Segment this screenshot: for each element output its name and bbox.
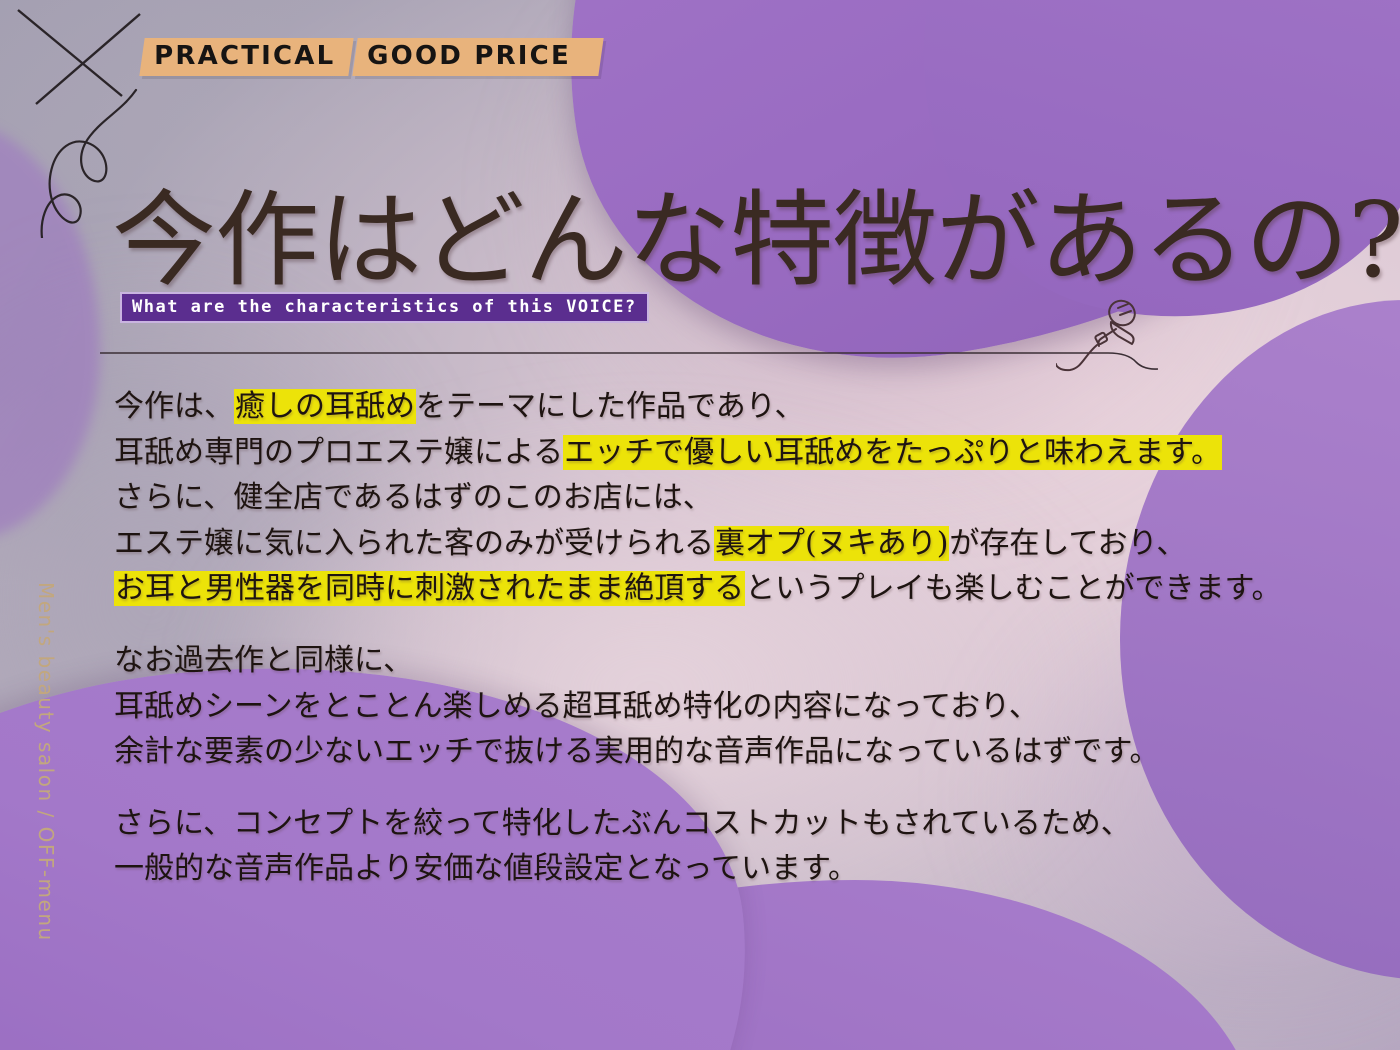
badge-practical: PRACTICAL [139,38,354,76]
body-text: というプレイも楽しむことができます。 [745,571,1281,606]
highlighted-text: 裏オプ(ヌキあり) [714,526,949,561]
body-line: エステ嬢に気に入られた客のみが受けられる裏オプ(ヌキあり)が存在しており、 [114,521,1384,567]
highlighted-text: エッチで優しい耳舐めをたっぷりと味わえます。 [563,435,1222,470]
body-text: をテーマにした作品であり、 [416,389,805,424]
badge-good-price-label: GOOD PRICE [367,41,571,71]
body-line: 余計な要素の少ないエッチで抜ける実用的な音声作品になっているはずです。 [114,729,1384,775]
body-text: さらに、健全店であるはずのこのお店には、 [114,480,713,515]
body-paragraph: 今作は、癒しの耳舐めをテーマにした作品であり、耳舐め専門のプロエステ嬢によるエッ… [114,384,1384,612]
body-line: お耳と男性器を同時に刺激されたまま絶頂するというプレイも楽しむことができます。 [114,566,1384,612]
body-text: なお過去作と同様に、 [114,643,413,678]
body-line: 今作は、癒しの耳舐めをテーマにした作品であり、 [114,384,1384,430]
body-line: なお過去作と同様に、 [114,638,1384,684]
body-text: エステ嬢に気に入られた客のみが受けられる [114,526,714,561]
body-text: 耳舐め専門のプロエステ嬢による [114,435,563,470]
body-line: 一般的な音声作品より安価な値段設定となっています。 [114,846,1384,892]
badge-practical-label: PRACTICAL [154,41,335,71]
page-subtitle: What are the characteristics of this VOI… [120,292,649,323]
microphone-icon [1056,296,1176,382]
page-title: 今作はどんな特徴があるの? [112,188,1400,292]
body-text: 余計な要素の少ないエッチで抜ける実用的な音声作品になっているはずです。 [114,734,1160,769]
body-text: 一般的な音声作品より安価な値段設定となっています。 [114,851,858,886]
badge-group: PRACTICAL GOOD PRICE [96,26,601,76]
badge-good-price: GOOD PRICE [353,38,604,76]
divider-rule [100,344,1160,370]
highlighted-text: 癒しの耳舐め [234,389,416,424]
body-text: が存在しており、 [949,526,1186,561]
body-paragraph: さらに、コンセプトを絞って特化したぶんコストカットもされているため、一般的な音声… [114,801,1384,892]
body-line: 耳舐めシーンをとことん楽しめる超耳舐め特化の内容になっており、 [114,684,1384,730]
body-text: 耳舐めシーンをとことん楽しめる超耳舐め特化の内容になっており、 [114,689,1039,724]
body-copy: 今作は、癒しの耳舐めをテーマにした作品であり、耳舐め専門のプロエステ嬢によるエッ… [114,384,1384,892]
body-line: 耳舐め専門のプロエステ嬢によるエッチで優しい耳舐めをたっぷりと味わえます。 [114,430,1384,476]
body-text: さらに、コンセプトを絞って特化したぶんコストカットもされているため、 [114,806,1131,841]
body-paragraph: なお過去作と同様に、耳舐めシーンをとことん楽しめる超耳舐め特化の内容になっており… [114,638,1384,775]
body-line: さらに、健全店であるはずのこのお店には、 [114,475,1384,521]
poster-canvas: PRACTICAL GOOD PRICE 今作はどんな特徴があるの? What … [0,0,1400,1050]
side-label: Men's beauty salon / OFF-menu [34,582,58,842]
body-line: さらに、コンセプトを絞って特化したぶんコストカットもされているため、 [114,801,1384,847]
highlighted-text: お耳と男性器を同時に刺激されたまま絶頂する [114,571,745,606]
body-text: 今作は、 [114,389,234,424]
